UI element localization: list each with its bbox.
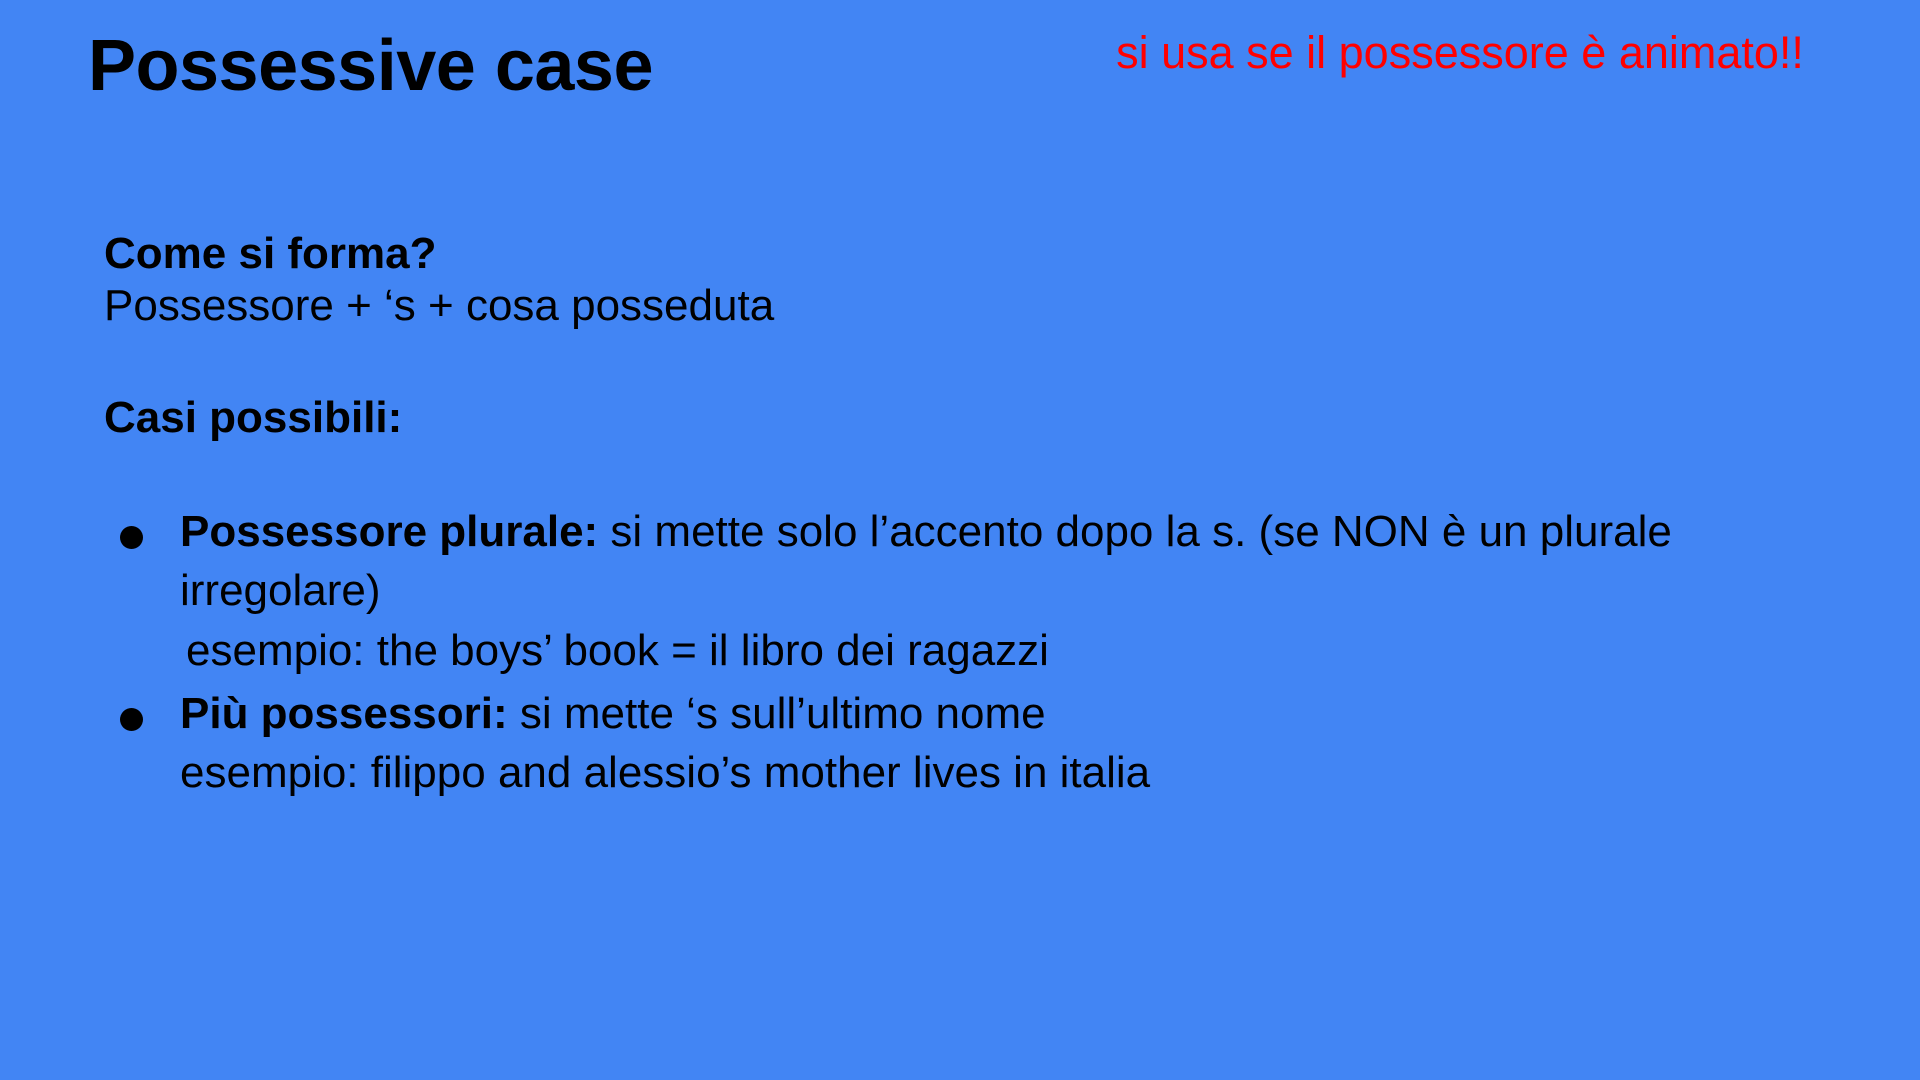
cases-list: Possessore plurale: si mette solo l’acce… <box>104 444 1864 803</box>
usage-note-line-1: si usa se il possessore è <box>1116 27 1606 78</box>
page-title: Possessive case <box>88 26 653 107</box>
case-example-multiple-possessors: esempio: filippo and alessio’s mother li… <box>180 743 1864 802</box>
case-text-multiple-possessors: si mette ‘s sull’ultimo nome <box>508 689 1046 738</box>
slide-header: Possessive case si usa se il possessore … <box>0 0 1920 160</box>
how-to-form-heading: Come si forma? <box>104 228 1864 280</box>
formation-formula: Possessore + ‘s + cosa posseduta <box>104 280 1864 332</box>
case-example-plural-possessor: esempio: the boys’ book = il libro dei r… <box>180 621 1864 680</box>
usage-note: si usa se il possessore è animato!! <box>1090 28 1830 78</box>
usage-note-line-2: animato!! <box>1619 27 1804 78</box>
slide-canvas: Possessive case si usa se il possessore … <box>0 0 1920 1080</box>
bullet-dot-icon <box>120 526 143 549</box>
list-item: Più possessori: si mette ‘s sull’ultimo … <box>104 684 1864 803</box>
list-item: Possessore plurale: si mette solo l’acce… <box>104 502 1864 680</box>
slide-body: Come si forma? Possessore + ‘s + cosa po… <box>104 228 1864 807</box>
case-label-plural-possessor: Possessore plurale: <box>180 507 598 556</box>
possible-cases-heading: Casi possibili: <box>104 332 1864 444</box>
bullet-dot-icon <box>120 708 143 731</box>
case-label-multiple-possessors: Più possessori: <box>180 689 508 738</box>
